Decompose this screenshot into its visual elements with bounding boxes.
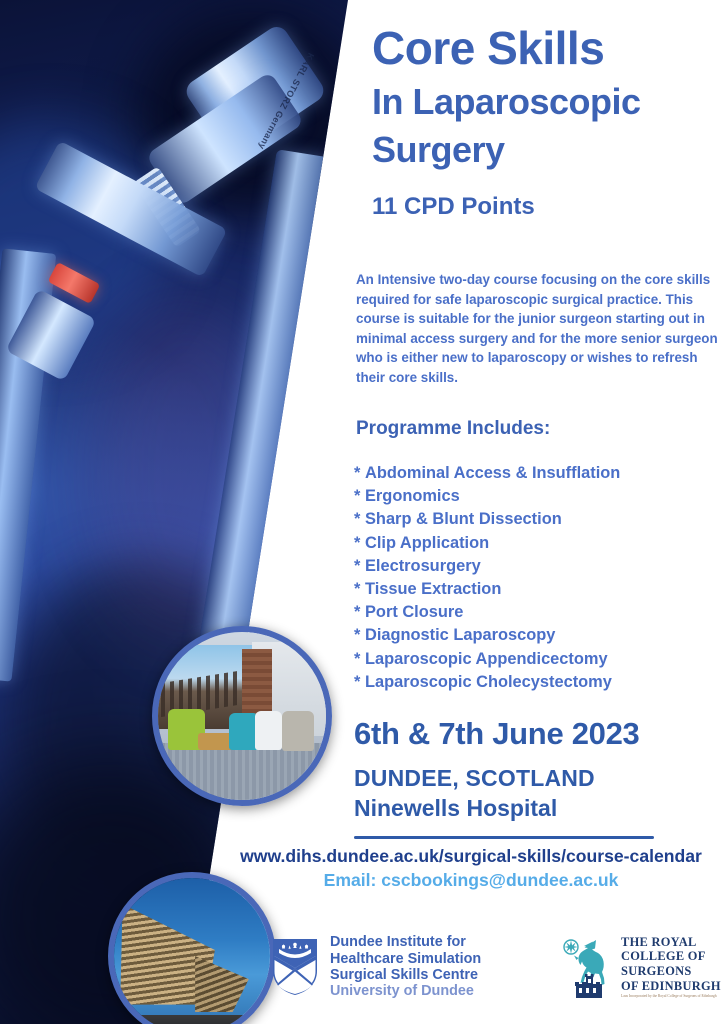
programme-item: *Port Closure [354, 601, 724, 624]
programme-item-label: Sharp & Blunt Dissection [365, 510, 562, 528]
programme-item-label: Laparoscopic Appendicectomy [365, 650, 608, 668]
bullet-star-icon: * [354, 532, 365, 555]
rcsed-logo-line-2: COLLEGE OF [621, 949, 721, 964]
programme-heading: Programme Includes: [356, 418, 550, 440]
course-url-link[interactable]: www.dihs.dundee.ac.uk/surgical-skills/co… [216, 846, 724, 867]
programme-item-label: Ergonomics [365, 487, 460, 505]
rcsed-logo-tagline: Laus Incorporated by the Royal College o… [621, 993, 721, 999]
dundee-logo-line-2: Healthcare Simulation [330, 951, 481, 967]
rcsed-logo-text: THE ROYAL COLLEGE OF SURGEONS OF EDINBUR… [621, 935, 721, 999]
course-description: An Intensive two-day course focusing on … [356, 270, 724, 388]
programme-item: *Electrosurgery [354, 555, 724, 578]
bullet-star-icon: * [354, 485, 365, 508]
event-city: DUNDEE, SCOTLAND [354, 765, 595, 792]
inset-photo-lounge [152, 626, 332, 806]
logo-royal-college-surgeons-edinburgh: THE ROYAL COLLEGE OF SURGEONS OF EDINBUR… [562, 926, 722, 1008]
event-venue: Ninewells Hospital [354, 795, 557, 822]
logo-dundee-institute: Dundee Institute for Healthcare Simulati… [272, 928, 502, 1006]
programme-item: *Abdominal Access & Insufflation [354, 462, 724, 485]
programme-item-label: Clip Application [365, 534, 489, 552]
programme-list: *Abdominal Access & Insufflation *Ergono… [354, 462, 724, 694]
programme-item-label: Electrosurgery [365, 557, 481, 575]
poster-root: KARL STORZ Germany Core Skills In Laparo… [0, 0, 724, 1024]
cpd-points: 11 CPD Points [372, 193, 535, 221]
rcsed-logo-line-3: SURGEONS [621, 964, 721, 979]
programme-item: *Sharp & Blunt Dissection [354, 508, 724, 531]
inset-photo-va-dundee [108, 872, 276, 1024]
rcsed-unicorn-castle-icon [562, 934, 614, 1000]
programme-item: *Ergonomics [354, 485, 724, 508]
poster-title-line-2: In Laparoscopic [372, 80, 641, 123]
lounge-chair-white [255, 711, 282, 750]
dundee-logo-text: Dundee Institute for Healthcare Simulati… [330, 934, 481, 1000]
bullet-star-icon: * [354, 648, 365, 671]
lounge-chair-teal [229, 713, 259, 750]
rcsed-logo-line-4: OF EDINBURGH [621, 979, 721, 994]
lounge-chair-grey [282, 711, 314, 751]
poster-title-line-3: Surgery [372, 128, 505, 171]
programme-item: *Laparoscopic Cholecystectomy [354, 671, 724, 694]
dundee-logo-line-4: University of Dundee [330, 983, 481, 999]
va-scene [114, 878, 270, 1024]
programme-item: *Clip Application [354, 532, 724, 555]
bullet-star-icon: * [354, 671, 365, 694]
rcsed-logo-line-1: THE ROYAL [621, 935, 721, 950]
dundee-shield-icon [272, 938, 318, 996]
poster-title-line-1: Core Skills [372, 22, 604, 74]
programme-item-label: Abdominal Access & Insufflation [365, 464, 620, 482]
programme-item: *Diagnostic Laparoscopy [354, 624, 724, 647]
bullet-star-icon: * [354, 601, 365, 624]
bullet-star-icon: * [354, 462, 365, 485]
dundee-logo-line-1: Dundee Institute for [330, 934, 481, 950]
bullet-star-icon: * [354, 555, 365, 578]
content-column: Core Skills In Laparoscopic Surgery 11 C… [348, 0, 724, 1024]
bullet-star-icon: * [354, 508, 365, 531]
bullet-star-icon: * [354, 578, 365, 601]
programme-item: *Tissue Extraction [354, 578, 724, 601]
lounge-scene [158, 632, 326, 800]
event-date: 6th & 7th June 2023 [354, 716, 639, 752]
lounge-floor [158, 743, 326, 800]
programme-item-label: Port Closure [365, 603, 463, 621]
programme-item-label: Tissue Extraction [365, 580, 501, 598]
divider-rule [354, 836, 654, 839]
programme-item-label: Laparoscopic Cholecystectomy [365, 673, 612, 691]
programme-item: *Laparoscopic Appendicectomy [354, 648, 724, 671]
contact-email-link[interactable]: Email: cscbookings@dundee.ac.uk [216, 870, 724, 891]
va-ground [114, 1015, 270, 1024]
dundee-logo-line-3: Surgical Skills Centre [330, 967, 481, 983]
programme-item-label: Diagnostic Laparoscopy [365, 626, 555, 644]
bullet-star-icon: * [354, 624, 365, 647]
